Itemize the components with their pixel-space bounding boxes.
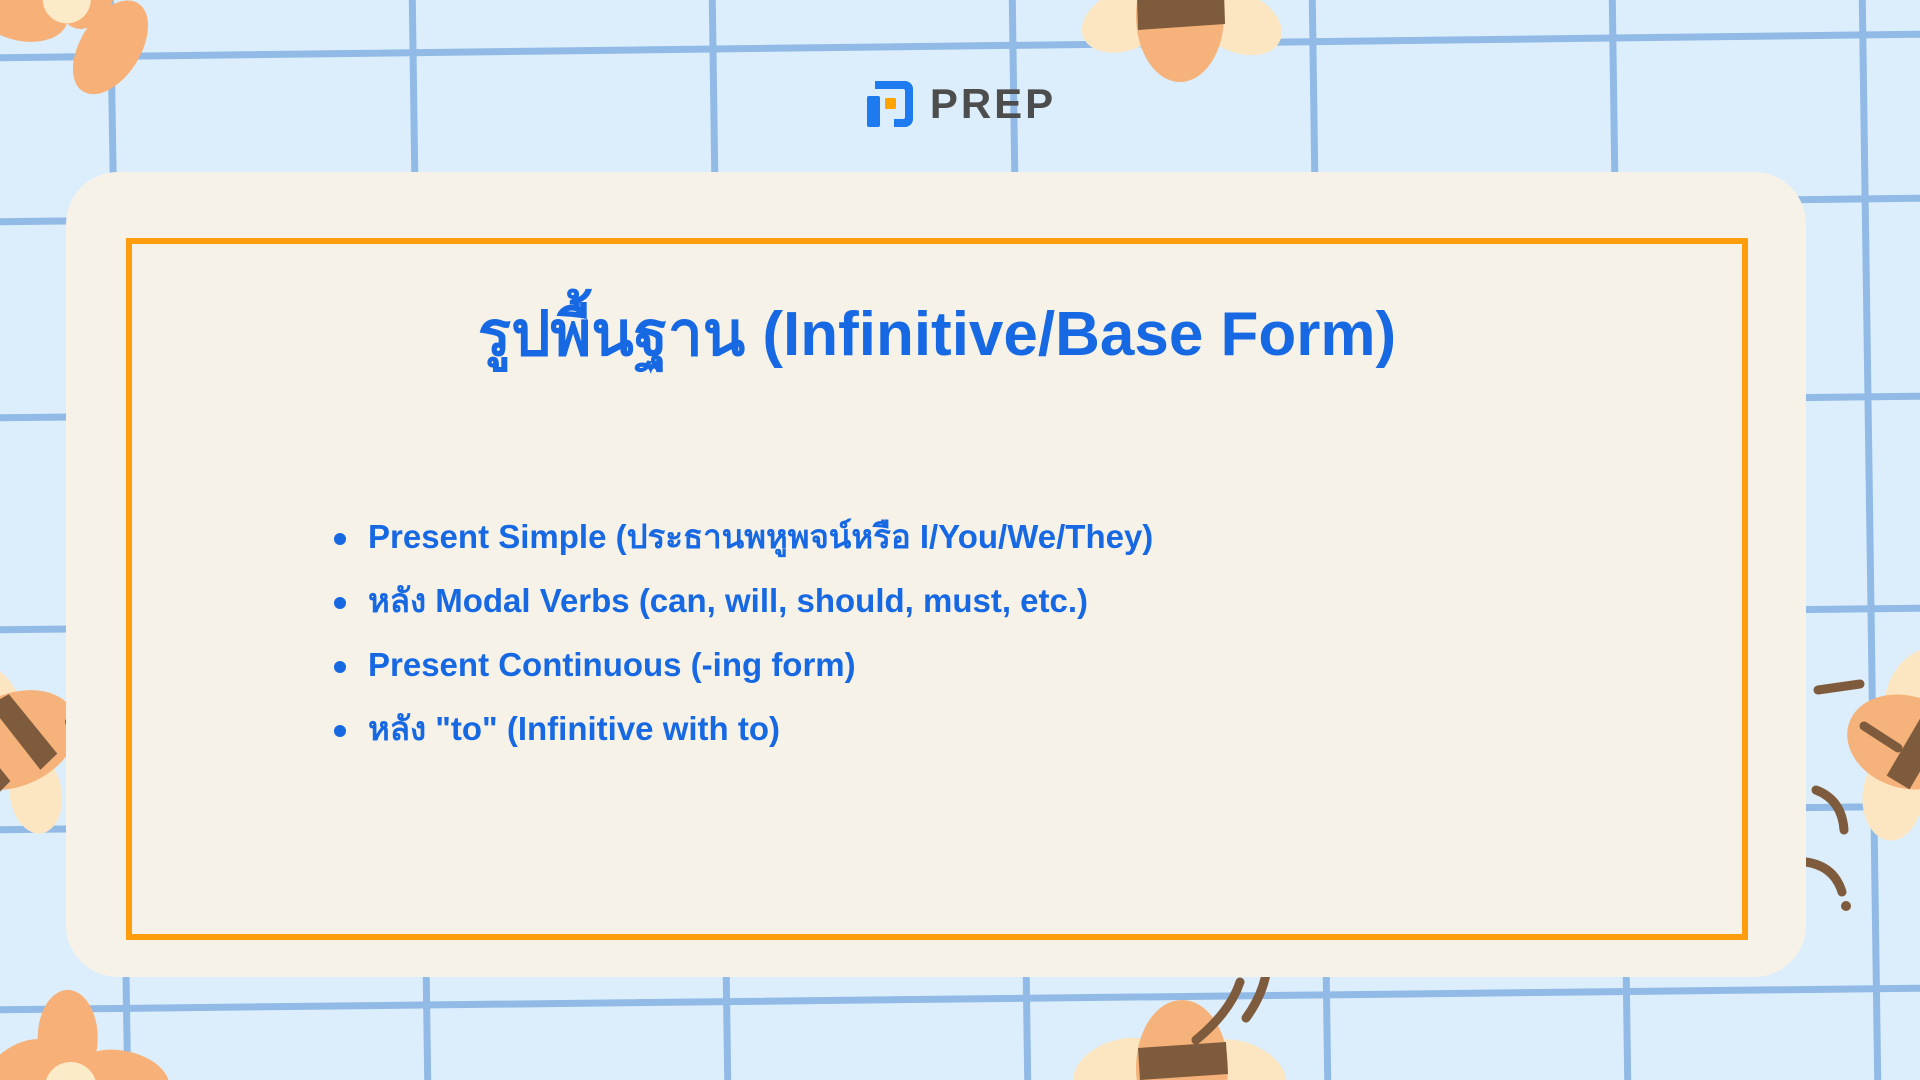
list-item: หลัง Modal Verbs (can, will, should, mus… bbox=[330, 584, 1670, 617]
list-item: Present Simple (ประธานพหูพจน์หรือ I/You/… bbox=[330, 520, 1670, 553]
list-item: หลัง "to" (Infinitive with to) bbox=[330, 712, 1670, 745]
brand-logo: PREP bbox=[0, 78, 1920, 130]
prep-logo-mark-icon bbox=[864, 78, 916, 130]
usage-bullet-list: Present Simple (ประธานพหูพจน์หรือ I/You/… bbox=[330, 520, 1670, 776]
brand-wordmark: PREP bbox=[930, 83, 1056, 125]
list-item: Present Continuous (-ing form) bbox=[330, 648, 1670, 681]
page-title: รูปพื้นฐาน (Infinitive/Base Form) bbox=[126, 296, 1748, 374]
